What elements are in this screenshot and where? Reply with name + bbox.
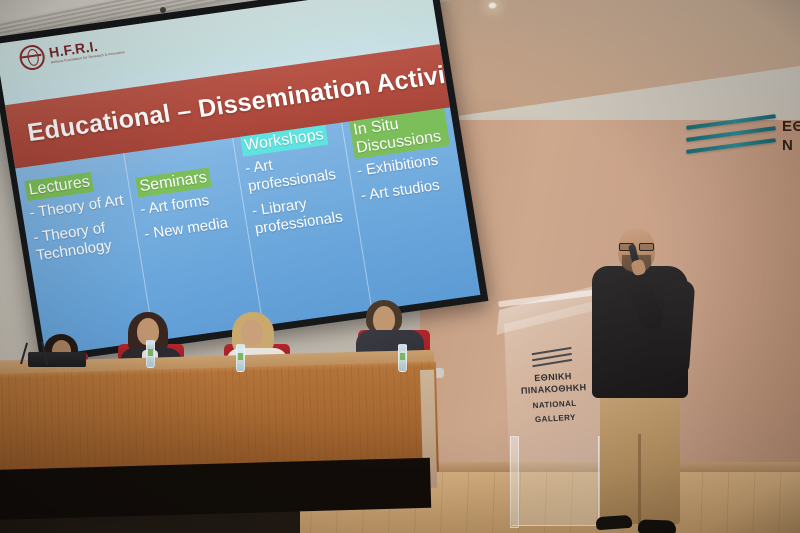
column-item: - New media: [143, 213, 241, 244]
wall-signage: ΕΘ Ν: [686, 112, 800, 174]
downlight-icon: [488, 2, 497, 9]
podium-english-line-1: NATIONAL: [532, 398, 576, 410]
laptop: [28, 352, 86, 367]
podium-english-line-2: GALLERY: [535, 413, 576, 424]
speaker-shoe-right: [638, 519, 676, 533]
projected-slide: H.F.R.I. Hellenic Foundation for Researc…: [0, 0, 480, 356]
conference-room-photo: H.F.R.I. Hellenic Foundation for Researc…: [0, 0, 800, 533]
wall-sign-line-2: Ν: [782, 137, 800, 156]
hfri-circle-logo-icon: [18, 43, 47, 71]
hfri-logo: H.F.R.I. Hellenic Foundation for Researc…: [18, 32, 126, 71]
eyeglasses-icon: [619, 243, 654, 249]
water-bottle: [398, 344, 407, 372]
speaker: [586, 228, 706, 533]
podium-leg-left: [510, 436, 519, 528]
podium-greek-line-2: ΠΙΝΑΚΟΘΗΚΗ: [521, 383, 587, 397]
water-bottle: [236, 344, 245, 372]
wall-sign-line-1: ΕΘ: [782, 118, 800, 137]
water-bottle: [146, 340, 155, 368]
podium-greek-line-1: ΕΘΝΙΚΗ: [534, 371, 572, 383]
wall-sign-text: ΕΘ Ν: [782, 118, 800, 156]
speaker-shoe-left: [596, 515, 633, 530]
column-item: - Theory of Technology: [32, 217, 133, 266]
speaker-leg-seam: [638, 434, 641, 524]
column-item: - Art studios: [360, 175, 458, 206]
speaker-arm-right: [659, 279, 696, 377]
column-item: - Library professionals: [251, 190, 352, 239]
three-bars-logo-icon: [686, 118, 778, 154]
three-bars-logo-icon: [532, 349, 573, 365]
column-item: - Art professionals: [244, 147, 345, 196]
projection-screen: H.F.R.I. Hellenic Foundation for Researc…: [0, 0, 488, 364]
